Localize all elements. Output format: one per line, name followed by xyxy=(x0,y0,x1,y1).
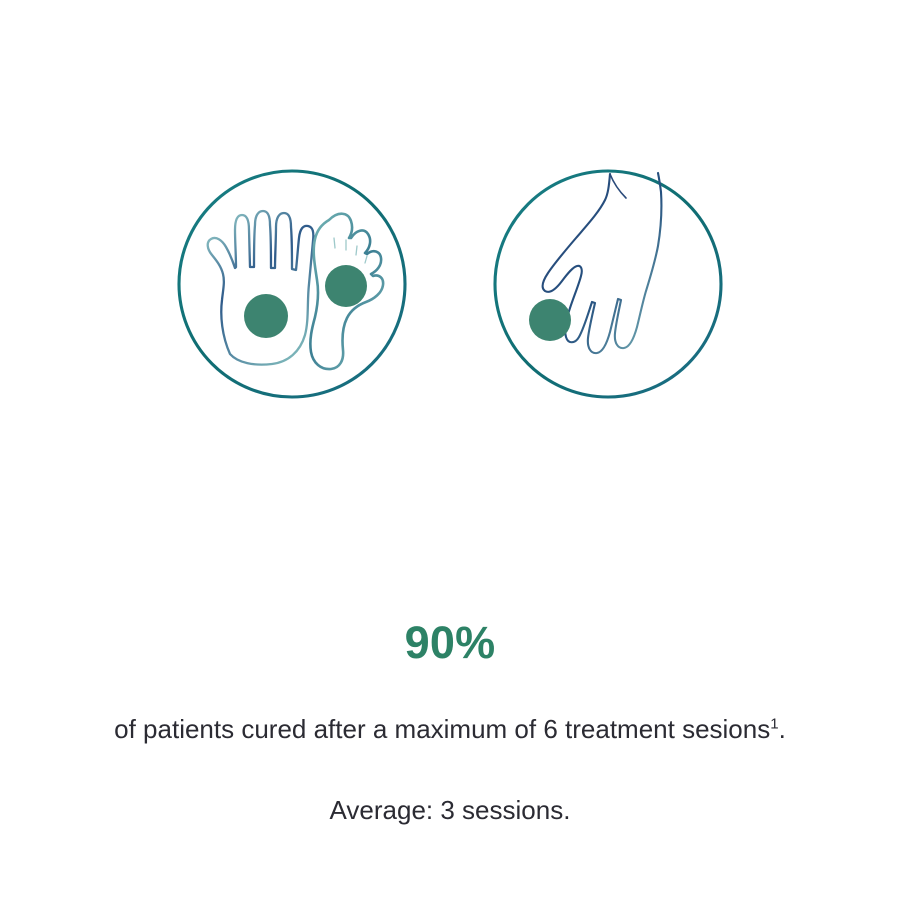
lead-line-terminator: . xyxy=(779,714,786,744)
foot-marker-dot xyxy=(325,265,367,307)
illustration-row xyxy=(0,168,900,408)
stat-copy-block: 90% of patients cured after a maximum of… xyxy=(0,620,900,828)
hand-and-foot-circle-icon xyxy=(176,168,408,400)
footnote-marker: 1 xyxy=(770,715,778,732)
stat-card: 90% of patients cured after a maximum of… xyxy=(0,0,900,900)
hand-marker-dot xyxy=(529,299,571,341)
lead-line: of patients cured after a maximum of 6 t… xyxy=(0,712,900,747)
circle-outline xyxy=(179,171,405,397)
headline-percentage: 90% xyxy=(0,620,900,665)
average-sessions-line: Average: 3 sessions. xyxy=(0,793,900,828)
sub-line-wrapper: Average: 3 sessions. xyxy=(0,793,900,828)
hand-reaching-circle-icon xyxy=(492,168,724,400)
lead-line-text: of patients cured after a maximum of 6 t… xyxy=(114,714,770,744)
lead-line-wrapper: of patients cured after a maximum of 6 t… xyxy=(0,712,900,747)
hand-outline xyxy=(208,211,314,365)
toe-separators xyxy=(334,238,367,263)
wrist-line xyxy=(610,174,626,198)
hand-marker-dot xyxy=(244,294,288,338)
circle-outline xyxy=(495,171,721,397)
